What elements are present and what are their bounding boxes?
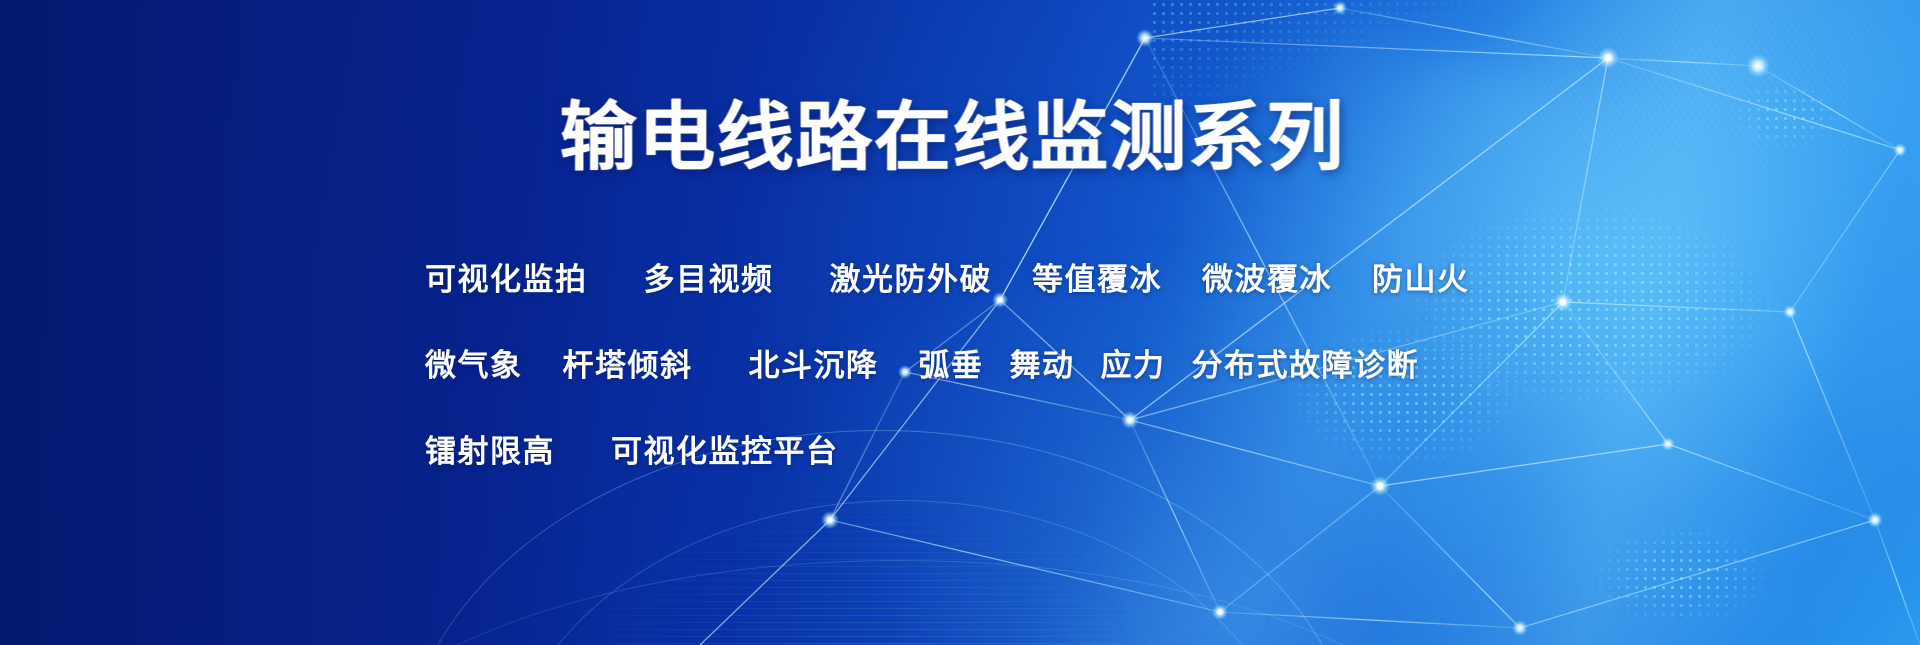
product-tag-row-2: 微气象 杆塔倾斜 北斗沉降 弧垂 舞动 应力 分布式故障诊断 <box>425 322 1545 408</box>
product-tag[interactable]: 分布式故障诊断 <box>1192 350 1420 381</box>
product-tag[interactable]: 等值覆冰 <box>1032 264 1162 295</box>
product-tag-row-3: 镭射限高 可视化监控平台 <box>425 408 1545 494</box>
product-tag[interactable]: 微气象 <box>425 350 523 381</box>
product-tag[interactable]: 北斗沉降 <box>749 350 879 381</box>
product-tag[interactable]: 可视化监控平台 <box>611 436 839 467</box>
product-tag[interactable]: 杆塔倾斜 <box>563 350 693 381</box>
product-tag[interactable]: 弧垂 <box>919 350 984 381</box>
product-tag[interactable]: 激光防外破 <box>830 264 993 295</box>
product-tag[interactable]: 微波覆冰 <box>1202 264 1332 295</box>
product-tag[interactable]: 镭射限高 <box>425 436 555 467</box>
product-tag-row-1: 可视化监拍 多目视频 激光防外破 等值覆冰 微波覆冰 防山火 <box>425 236 1545 322</box>
product-tag[interactable]: 应力 <box>1101 350 1166 381</box>
page-title: 输电线路在线监测系列 <box>560 100 1345 175</box>
hero-banner: 输电线路在线监测系列 可视化监拍 多目视频 激光防外破 等值覆冰 微波覆冰 防山… <box>0 0 1920 645</box>
banner-content: 输电线路在线监测系列 可视化监拍 多目视频 激光防外破 等值覆冰 微波覆冰 防山… <box>0 0 1920 645</box>
product-tag-list: 可视化监拍 多目视频 激光防外破 等值覆冰 微波覆冰 防山火 微气象 杆塔倾斜 … <box>425 236 1545 494</box>
product-tag[interactable]: 防山火 <box>1372 264 1470 295</box>
product-tag[interactable]: 多目视频 <box>644 264 774 295</box>
product-tag[interactable]: 舞动 <box>1010 350 1075 381</box>
product-tag[interactable]: 可视化监拍 <box>425 264 588 295</box>
